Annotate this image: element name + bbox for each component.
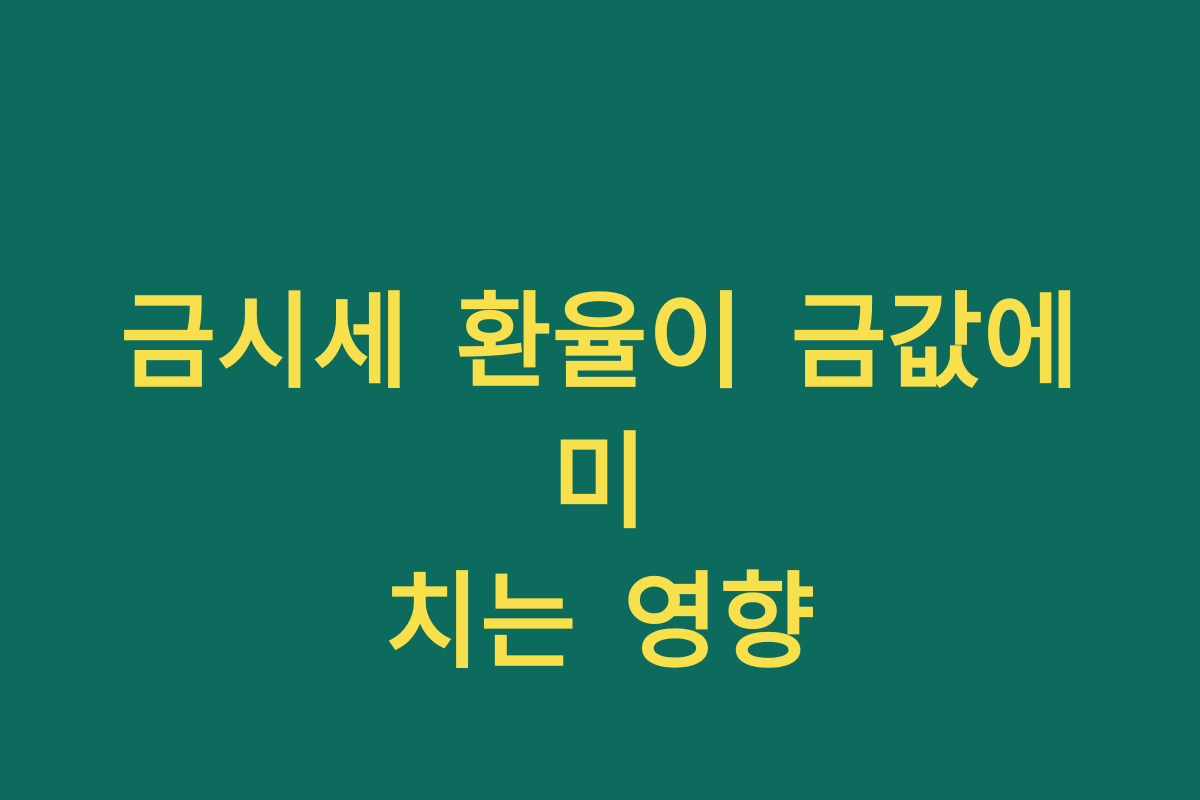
headline-block: 금시세 환율이 금값에 미 치는 영향	[0, 272, 1200, 692]
headline-text: 금시세 환율이 금값에 미 치는 영향	[60, 272, 1140, 692]
title-banner: 금시세 환율이 금값에 미 치는 영향	[0, 0, 1200, 800]
